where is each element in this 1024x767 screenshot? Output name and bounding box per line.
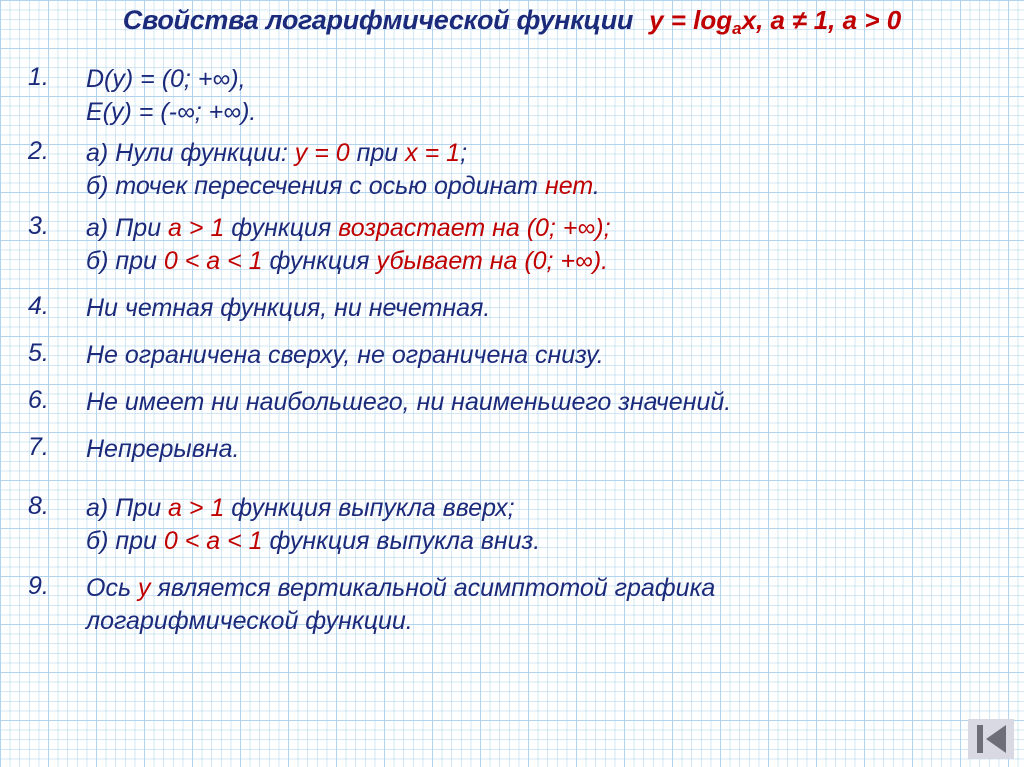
body-text: функция <box>263 247 377 275</box>
list-item: 8.а) При a > 1 функция выпукла вверх;б) … <box>0 492 1024 558</box>
body-text: Не имеет ни наибольшего, ни наименьшего … <box>86 388 731 416</box>
body-text: при <box>350 139 405 167</box>
skip-to-start-bar-icon <box>977 725 983 753</box>
list-item-number: 9. <box>28 572 76 601</box>
title-main-text: Свойства логарифмической функции <box>123 5 633 36</box>
list-item-line: Не имеет ни наибольшего, ни наименьшего … <box>86 386 1024 419</box>
list-item-line: E(y) = (-∞; +∞). <box>86 96 1024 129</box>
body-text: является вертикальной асимптотой графика <box>151 574 716 602</box>
body-text: б) при <box>86 527 164 555</box>
previous-slide-button[interactable] <box>968 719 1014 759</box>
highlighted-text: нет <box>545 172 593 200</box>
highlighted-text: возрастает на (0; +∞); <box>338 214 610 242</box>
highlighted-text: a > 1 <box>168 494 224 522</box>
list-item: 2.а) Нули функции: y = 0 при x = 1;б) то… <box>0 137 1024 203</box>
body-text: функция выпукла вниз. <box>263 527 541 555</box>
properties-list: 1.D(y) = (0; +∞),E(y) = (-∞; +∞).2.а) Ну… <box>0 63 1024 638</box>
list-item-line: логарифмической функции. <box>86 605 1024 638</box>
highlighted-text: y = 0 <box>295 139 350 167</box>
body-text: а) При <box>86 214 168 242</box>
body-text: логарифмической функции. <box>86 607 413 635</box>
page-title: Свойства логарифмической функции y = log… <box>0 5 1024 45</box>
body-text: а) Нули функции: <box>86 139 295 167</box>
body-text: б) точек пересечения с осью ординат <box>86 172 545 200</box>
list-item-number: 4. <box>28 292 76 321</box>
body-text: Ось <box>86 574 138 602</box>
list-item-line: Ни четная функция, ни нечетная. <box>86 292 1024 325</box>
highlighted-text: убывает на (0; +∞). <box>376 247 608 275</box>
body-text: Непрерывна. <box>86 435 239 463</box>
list-item-line: Непрерывна. <box>86 433 1024 466</box>
list-item-line: Не ограничена сверху, не ограничена сниз… <box>86 339 1024 372</box>
list-item-line: а) Нули функции: y = 0 при x = 1; <box>86 137 1024 170</box>
list-item: 3.а) При a > 1 функция возрастает на (0;… <box>0 212 1024 278</box>
body-text: . <box>593 172 600 200</box>
body-text: Ни четная функция, ни нечетная. <box>86 294 490 322</box>
body-text: E(y) = (-∞; +∞). <box>86 98 256 126</box>
body-text: Не ограничена сверху, не ограничена сниз… <box>86 341 604 369</box>
highlighted-text: a > 1 <box>168 214 224 242</box>
body-text: ; <box>460 139 467 167</box>
list-item-number: 1. <box>28 63 76 92</box>
list-item-number: 5. <box>28 339 76 368</box>
highlighted-text: y <box>138 574 151 602</box>
list-item-line: а) При a > 1 функция возрастает на (0; +… <box>86 212 1024 245</box>
list-item: 6.Не имеет ни наибольшего, ни наименьшег… <box>0 386 1024 419</box>
title-formula: y = logax, a ≠ 1, a > 0 <box>649 5 901 39</box>
list-item-line: а) При a > 1 функция выпукла вверх; <box>86 492 1024 525</box>
list-item-number: 7. <box>28 433 76 462</box>
list-item-line: б) при 0 < a < 1 функция убывает на (0; … <box>86 245 1024 278</box>
body-text: функция <box>224 214 338 242</box>
highlighted-text: 0 < a < 1 <box>164 247 263 275</box>
list-item-number: 8. <box>28 492 76 521</box>
body-text: б) при <box>86 247 164 275</box>
body-text: а) При <box>86 494 168 522</box>
formula-prefix: y = log <box>649 5 732 35</box>
body-text: D(y) = (0; +∞), <box>86 65 246 93</box>
list-item-number: 6. <box>28 386 76 415</box>
list-item-number: 3. <box>28 212 76 241</box>
list-item: 4.Ни четная функция, ни нечетная. <box>0 292 1024 325</box>
list-item-number: 2. <box>28 137 76 166</box>
triangle-left-icon <box>986 725 1006 753</box>
formula-subscript: a <box>732 19 741 38</box>
list-item-line: б) при 0 < a < 1 функция выпукла вниз. <box>86 525 1024 558</box>
list-item-line: б) точек пересечения с осью ординат нет. <box>86 170 1024 203</box>
slide-canvas: Свойства логарифмической функции y = log… <box>0 0 1024 767</box>
list-item-line: D(y) = (0; +∞), <box>86 63 1024 96</box>
list-item: 9.Ось y является вертикальной асимптотой… <box>0 572 1024 638</box>
highlighted-text: x = 1 <box>405 139 460 167</box>
body-text: функция выпукла вверх; <box>224 494 514 522</box>
list-item-line: Ось y является вертикальной асимптотой г… <box>86 572 1024 605</box>
highlighted-text: 0 < a < 1 <box>164 527 263 555</box>
formula-suffix: x, a ≠ 1, a > 0 <box>742 5 902 35</box>
list-item: 7.Непрерывна. <box>0 433 1024 466</box>
list-item: 5.Не ограничена сверху, не ограничена сн… <box>0 339 1024 372</box>
list-item: 1.D(y) = (0; +∞),E(y) = (-∞; +∞). <box>0 63 1024 129</box>
